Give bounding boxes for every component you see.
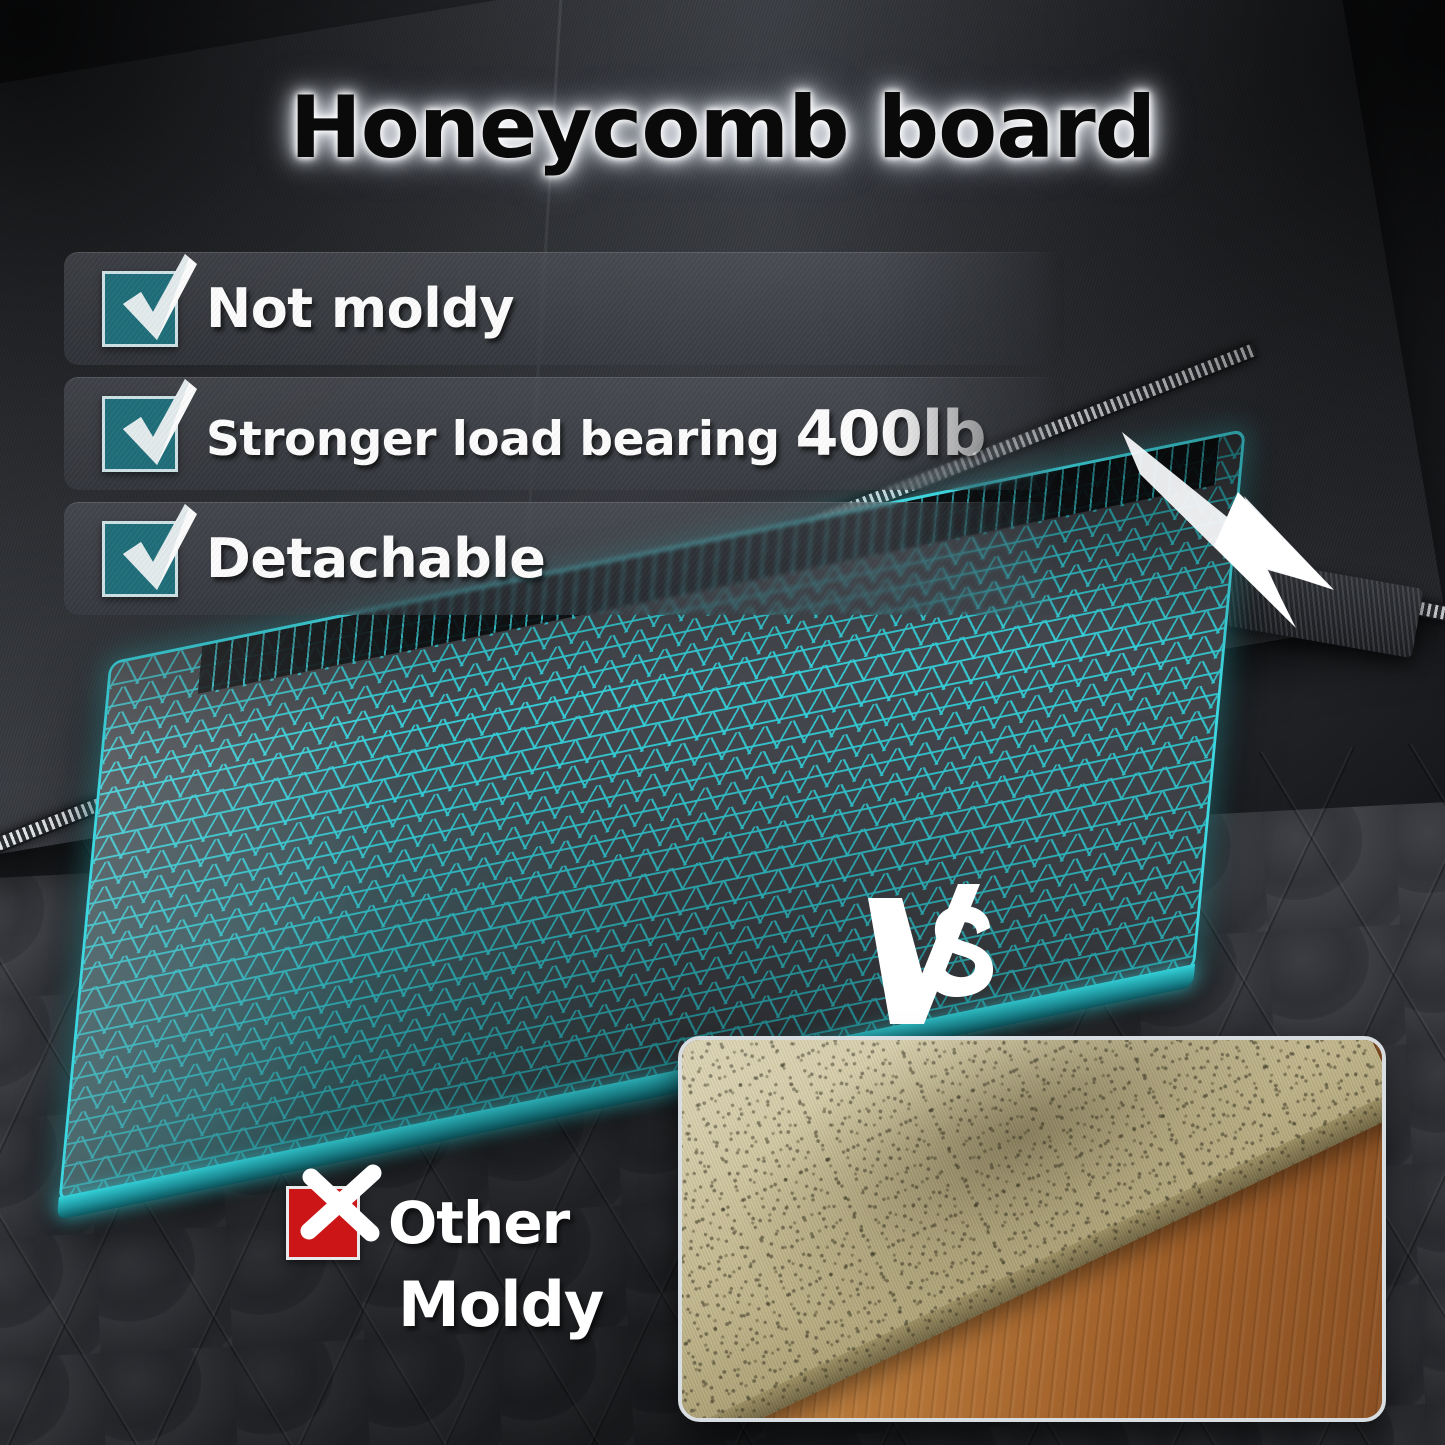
comparison-line-2: Moldy <box>398 1268 706 1341</box>
feature-label: Stronger load bearing <box>206 412 795 467</box>
feature-label: Detachable <box>206 527 545 590</box>
arrow-down-right-icon <box>1118 400 1368 650</box>
check-icon <box>102 271 178 347</box>
feature-row-not-moldy: Not moldy <box>64 252 1064 365</box>
page-title: Honeycomb board <box>0 78 1445 178</box>
comparison-callout: Other Moldy <box>286 1186 706 1341</box>
feature-label-wrap: Stronger load bearing 400lb <box>206 397 985 470</box>
check-icon <box>102 396 178 472</box>
x-mark-icon <box>286 1186 360 1260</box>
feature-label-emphasis: 400lb <box>795 397 985 470</box>
moldy-pad-photo <box>678 1036 1386 1422</box>
feature-row-load-bearing: Stronger load bearing 400lb <box>64 377 1064 490</box>
versus-mark <box>862 884 1022 1024</box>
comparison-row: Other <box>286 1186 706 1260</box>
feature-row-detachable: Detachable <box>64 502 1064 615</box>
product-infographic: Honeycomb board Not moldy Stronger load … <box>0 0 1445 1445</box>
check-icon <box>102 521 178 597</box>
feature-list: Not moldy Stronger load bearing 400lb De… <box>64 252 1064 627</box>
comparison-line-1: Other <box>388 1189 569 1257</box>
feature-label: Not moldy <box>206 277 514 340</box>
